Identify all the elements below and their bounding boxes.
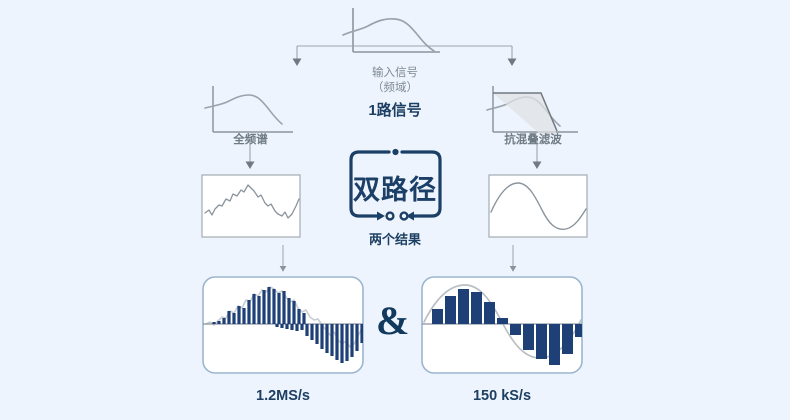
source-caption-line1: 输入信号	[345, 66, 445, 80]
right-spectrum-label: 抗混叠滤波	[483, 133, 583, 147]
source-emphasis-label: 1路信号	[340, 102, 450, 121]
source-caption-line2: （频域）	[345, 81, 445, 95]
center-sub-label: 两个结果	[343, 232, 447, 248]
ampersand-separator: &	[376, 297, 409, 344]
diagram-text-layer: 输入信号 （频域） 1路信号 全频谱 抗混叠滤波 双路径 两个结果 & 1.2M…	[0, 0, 790, 420]
left-spectrum-label: 全频谱	[203, 133, 298, 147]
dual-path-badge-text: 双路径	[353, 168, 437, 207]
right-rate-label: 150 kS/s	[452, 387, 552, 405]
left-rate-label: 1.2MS/s	[233, 387, 333, 405]
diagram-canvas: 输入信号 （频域） 1路信号 全频谱 抗混叠滤波 双路径 两个结果 & 1.2M…	[0, 0, 790, 420]
